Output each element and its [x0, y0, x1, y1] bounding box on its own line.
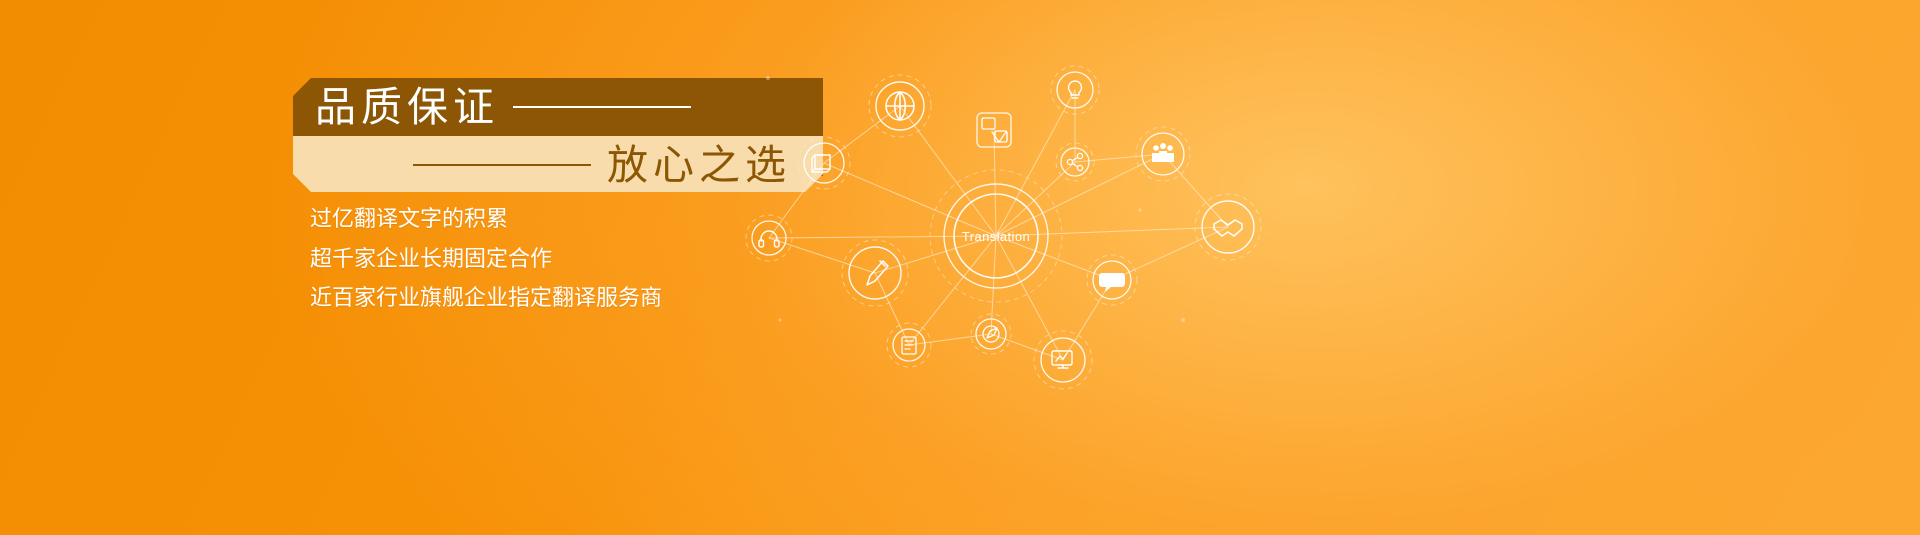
node-globe — [869, 75, 931, 137]
book-icon — [812, 155, 830, 172]
feature-item: 超千家企业长期固定合作 — [310, 247, 662, 272]
feature-list: 过亿翻译文字的积累 超千家企业长期固定合作 近百家行业旗舰企业指定翻译服务商 — [310, 207, 662, 311]
plate-top-row: 品质保证 — [315, 78, 691, 136]
handshake-icon — [1214, 220, 1242, 236]
globe-icon — [886, 92, 914, 120]
pencil-icon — [867, 261, 888, 285]
node-team — [1136, 127, 1190, 181]
chat-bubble-icon — [1099, 273, 1125, 292]
feature-item: 过亿翻译文字的积累 — [310, 207, 662, 232]
horizontal-rule-dark — [413, 164, 591, 166]
promo-banner: 品质保证 放心之选 过亿翻译文字的积累 超千家企业长期固定合作 近百家行业旗舰企… — [0, 0, 1920, 535]
node-document — [887, 323, 931, 367]
headline-primary: 品质保证 — [315, 87, 499, 128]
translation-network-graphic: Translation — [720, 20, 1320, 420]
hub-label: Translation — [962, 229, 1030, 244]
people-group-icon — [1152, 143, 1174, 162]
headset-icon — [759, 231, 779, 247]
node-chat — [1087, 255, 1137, 305]
feature-item: 近百家行业旗舰企业指定翻译服务商 — [310, 286, 662, 311]
horizontal-rule-light — [513, 106, 691, 108]
